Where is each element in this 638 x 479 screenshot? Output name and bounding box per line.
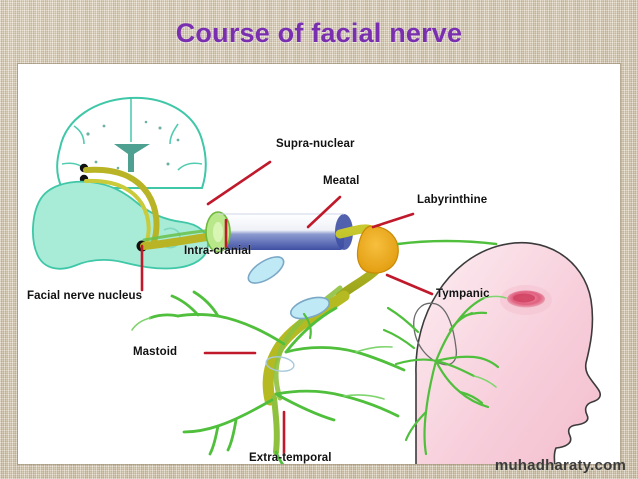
label-supra-nuclear: Supra-nuclear [276,138,355,150]
label-tympanic: Tympanic [436,288,490,300]
label-facial-nerve-nucleus: Facial nerve nucleus [27,290,142,302]
label-extra-temporal: Extra-temporal [249,452,332,464]
watermark: muhadharaty.com [495,457,626,474]
label-intra-cranial: Intra-cranial [184,245,251,257]
diagram-panel: Supra-nuclear Meatal Labyrinthine Tympan… [18,64,620,464]
nerve-mastoid-trunk [244,252,344,400]
leader-supra-nuclear [208,162,270,204]
label-mastoid: Mastoid [133,346,177,358]
eye [500,285,552,315]
label-labyrinthine: Labyrinthine [417,194,487,206]
leader-labyrinthine [373,214,413,227]
geniculate-ganglion [357,226,398,273]
label-meatal: Meatal [323,175,359,187]
face-profile [384,243,600,464]
facial-nerve-diagram [18,64,620,464]
page-title: Course of facial nerve [0,18,638,49]
slide-background: Course of facial nerve [0,0,638,479]
leader-tympanic [387,275,432,294]
semicircular-canals [244,252,332,373]
